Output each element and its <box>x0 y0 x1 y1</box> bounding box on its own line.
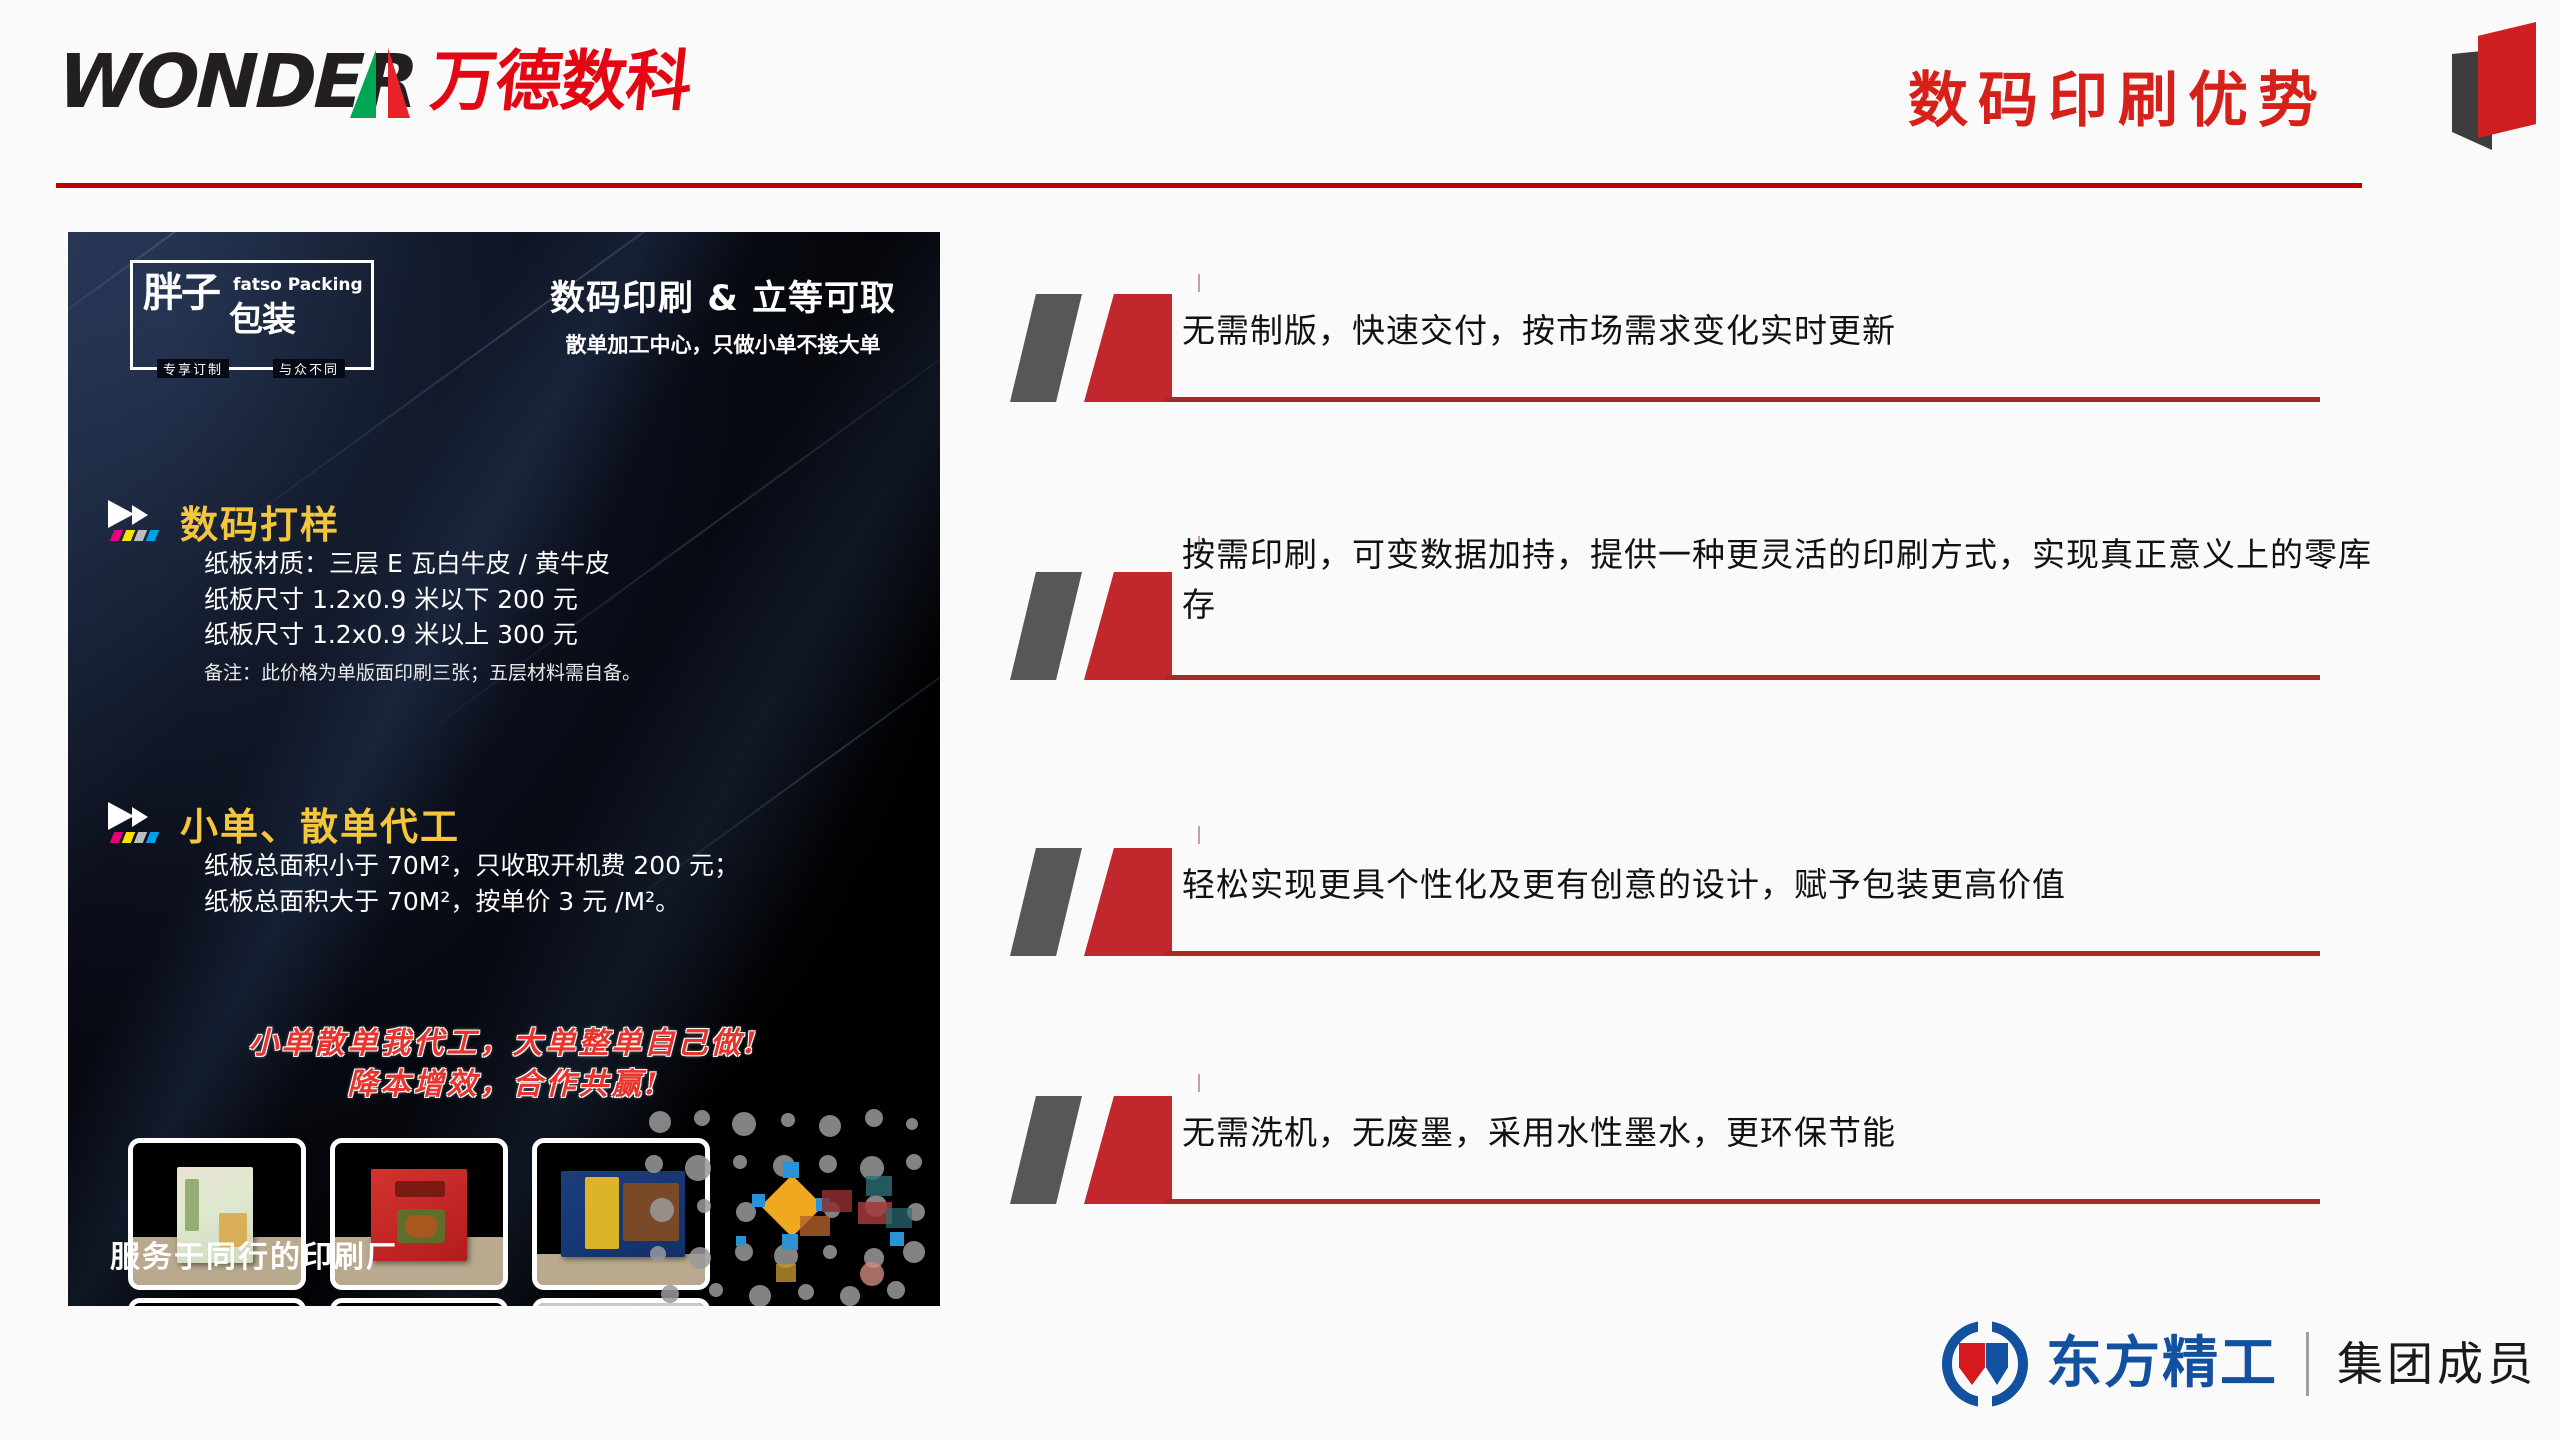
bullet-underline <box>1165 1199 2320 1204</box>
product-photo-classic-tea-boxes <box>330 1298 508 1306</box>
fatso-logo-cn-bottom: 包装 <box>229 303 295 337</box>
section-1-line-3: 纸板尺寸 1.2x0.9 米以上 300 元 <box>204 617 641 653</box>
poster-caption: 服务于同行的印刷厂 <box>110 1232 398 1276</box>
footer-company-name: 东方精工 <box>2046 1336 2278 1392</box>
section-title-1: 数码打样 <box>180 494 340 549</box>
wonder-brand-cn: 万德数科 <box>428 49 695 115</box>
fatso-logo-en: fatso Packing <box>233 275 363 295</box>
wonder-wordmark: WONDER 万德数科 <box>58 44 691 120</box>
footer-divider <box>2306 1332 2309 1396</box>
fatso-packing-logo: 胖子 fatso Packing 包装 专享订制 与众不同 <box>130 260 374 370</box>
group-member-footer: 东方精工 集团成员 <box>1942 1318 2537 1410</box>
promo-poster-image: 胖子 fatso Packing 包装 专享订制 与众不同 数码印刷 & 立等可… <box>68 232 940 1306</box>
bullet-marker-red <box>1084 1096 1172 1204</box>
section-title-2: 小单、散单代工 <box>180 796 460 851</box>
bullet-underline <box>1165 675 2320 680</box>
bullet-marker-gray <box>1010 848 1082 956</box>
section-2-line-1: 纸板总面积小于 70M²，只收取开机费 200 元； <box>204 848 739 884</box>
bullet-marker-gray <box>1010 294 1082 402</box>
poster-slogan: 小单散单我代工，大单整单自己做! 降本增效，合作共赢! <box>68 1024 940 1105</box>
tick-mark <box>1198 1074 1200 1092</box>
cmyk-dots-icon <box>110 530 159 541</box>
slogan-line-1: 小单散单我代工，大单整单自己做! <box>68 1024 940 1065</box>
footer-member-label: 集团成员 <box>2337 1341 2537 1387</box>
corner-red-shape <box>2478 22 2536 138</box>
arrow-bullet-icon <box>108 802 166 848</box>
bullet-marker-icon <box>1000 294 1190 404</box>
advantage-text-4: 无需洗机，无废墨，采用水性墨水，更环保节能 <box>1182 1108 2382 1158</box>
wonder-green-accent-icon <box>350 50 376 118</box>
section-1-note: 备注：此价格为单版面印刷三张；五层材料需自备。 <box>204 658 641 685</box>
bullet-marker-gray <box>1010 1096 1082 1204</box>
section-2-line-2: 纸板总面积大于 70M²，按单价 3 元 /M²。 <box>204 884 739 920</box>
slogan-line-2: 降本增效，合作共赢! <box>68 1065 940 1106</box>
section-body-1: 纸板材质：三层 E 瓦白牛皮 / 黄牛皮 纸板尺寸 1.2x0.9 米以下 20… <box>204 546 641 685</box>
section-1-line-1: 纸板材质：三层 E 瓦白牛皮 / 黄牛皮 <box>204 546 641 582</box>
page-header: WONDER 万德数科 数码印刷优势 <box>0 0 2560 200</box>
tick-mark <box>1198 274 1200 292</box>
dongfang-jingong-logo-icon <box>1942 1321 2028 1407</box>
bullet-marker-icon <box>1000 1096 1190 1206</box>
product-photo-kraft-handle-box <box>128 1298 306 1306</box>
cmyk-dots-icon <box>110 832 159 843</box>
arrow-bullet-icon <box>108 500 166 546</box>
advantage-text-2: 按需印刷，可变数据加持，提供一种更灵活的印刷方式，实现真正意义上的零库存 <box>1182 530 2382 629</box>
poster-headline-block: 数码印刷 & 立等可取 散单加工中心，只做小单不接大单 <box>523 270 923 359</box>
section-body-2: 纸板总面积小于 70M²，只收取开机费 200 元； 纸板总面积大于 70M²，… <box>204 848 739 919</box>
tick-mark <box>1198 826 1200 844</box>
poster-headline: 数码印刷 & 立等可取 <box>523 270 923 321</box>
fatso-tagline-right: 与众不同 <box>273 359 345 378</box>
poster-subheadline: 散单加工中心，只做小单不接大单 <box>523 329 923 359</box>
dot-pattern-decoration-icon <box>640 1106 940 1306</box>
header-divider <box>56 183 2362 188</box>
section-1-line-2: 纸板尺寸 1.2x0.9 米以下 200 元 <box>204 582 641 618</box>
fatso-tagline-left: 专享订制 <box>157 359 229 378</box>
corner-decoration-icon <box>2452 6 2542 158</box>
bullet-marker-red <box>1084 848 1172 956</box>
bullet-marker-icon <box>1000 572 1190 682</box>
advantage-text-3: 轻松实现更具个性化及更有创意的设计，赋予包装更高价值 <box>1182 860 2382 910</box>
bullet-marker-gray <box>1010 572 1082 680</box>
bullet-underline <box>1165 397 2320 402</box>
wonder-brand-logo: WONDER 万德数科 <box>58 40 691 120</box>
bullet-underline <box>1165 951 2320 956</box>
fatso-logo-cn-top: 胖子 <box>143 273 219 313</box>
wonder-red-accent-icon <box>388 48 410 118</box>
bullet-marker-red <box>1084 572 1172 680</box>
bullet-marker-red <box>1084 294 1172 402</box>
advantage-text-1: 无需制版，快速交付，按市场需求变化实时更新 <box>1182 306 2382 356</box>
bullet-marker-icon <box>1000 848 1190 958</box>
page-title: 数码印刷优势 <box>1908 52 2328 139</box>
